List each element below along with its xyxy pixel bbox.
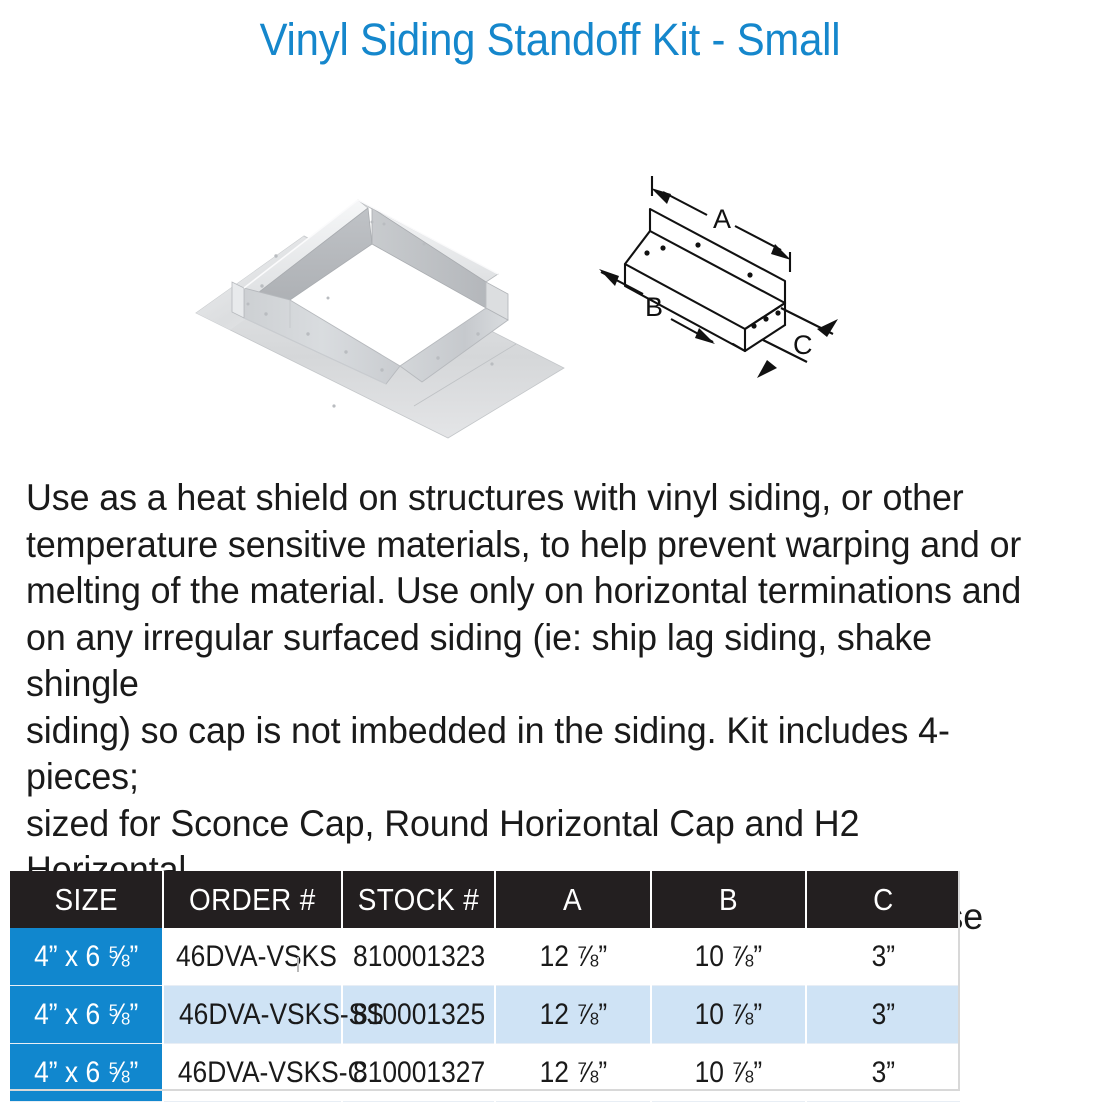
cell-order-number: 46DVA-VSKS-C bbox=[163, 1044, 342, 1102]
cell-dimension-c: 3” bbox=[806, 986, 960, 1044]
cell-dimension-c: 3” bbox=[806, 1044, 960, 1102]
cell-size: 4” x 6 ⅝” bbox=[10, 986, 163, 1044]
table-row: 4” x 6 ⅝” 46DVA-VSKS-C 810001327 12 ⅞” 1… bbox=[10, 1044, 960, 1102]
product-spec-sheet: Vinyl Siding Standoff Kit - Small bbox=[0, 0, 1100, 1100]
dimension-diagram: A B C bbox=[585, 168, 885, 388]
cell-dimension-b: 10 ⅞” bbox=[651, 986, 806, 1044]
specification-table: SIZE ORDER # STOCK # A B C 4” x 6 ⅝” 46D… bbox=[10, 871, 960, 1102]
column-header-c: C bbox=[806, 871, 960, 928]
description-line-5: siding) so cap is not imbedded in the si… bbox=[26, 707, 1029, 800]
cell-dimension-c: 3” bbox=[806, 928, 960, 986]
table-row: 4” x 6 ⅝” 46DVA-VSKS-SS 810001325 12 ⅞” … bbox=[10, 986, 960, 1044]
column-header-size: SIZE bbox=[10, 871, 163, 928]
cell-stock-number: 810001325 bbox=[342, 986, 495, 1044]
dimension-label-a: A bbox=[713, 204, 731, 234]
column-header-order: ORDER # bbox=[163, 871, 342, 928]
table-right-border bbox=[958, 871, 960, 1091]
cell-order-number: 46DVA-VSKS-SS bbox=[163, 986, 342, 1044]
cell-size: 4” x 6 ⅝” bbox=[10, 928, 163, 986]
description-line-1: Use as a heat shield on structures with … bbox=[26, 474, 1029, 521]
cell-dimension-a: 12 ⅞” bbox=[495, 1044, 651, 1102]
dimension-label-b: B bbox=[645, 292, 663, 322]
description-line-3: melting of the material. Use only on hor… bbox=[26, 567, 1029, 614]
description-line-2: temperature sensitive materials, to help… bbox=[26, 521, 1029, 568]
column-header-stock: STOCK # bbox=[342, 871, 495, 928]
cell-stock-number: 810001323 bbox=[342, 928, 495, 986]
page-title: Vinyl Siding Standoff Kit - Small bbox=[39, 14, 1062, 66]
table-header-row: SIZE ORDER # STOCK # A B C bbox=[10, 871, 960, 928]
column-header-b: B bbox=[651, 871, 806, 928]
cell-dimension-a: 12 ⅞” bbox=[495, 928, 651, 986]
table-row: 4” x 6 ⅝” 46DVA-VSKS 810001323 12 ⅞” 10 … bbox=[10, 928, 960, 986]
column-header-a: A bbox=[495, 871, 651, 928]
figure-row: A B C bbox=[0, 160, 1100, 450]
description-line-4: on any irregular surfaced siding (ie: sh… bbox=[26, 614, 1029, 707]
cell-dimension-b: 10 ⅞” bbox=[651, 1044, 806, 1102]
cell-stock-number: 810001327 bbox=[342, 1044, 495, 1102]
table-bottom-border bbox=[10, 1089, 960, 1091]
cell-order-number: 46DVA-VSKS bbox=[163, 928, 342, 986]
product-photo bbox=[186, 178, 576, 440]
cell-dimension-b: 10 ⅞” bbox=[651, 928, 806, 986]
cell-size: 4” x 6 ⅝” bbox=[10, 1044, 163, 1102]
scan-artifact-mark bbox=[297, 957, 299, 972]
dimension-label-c: C bbox=[793, 330, 813, 360]
cell-dimension-a: 12 ⅞” bbox=[495, 986, 651, 1044]
